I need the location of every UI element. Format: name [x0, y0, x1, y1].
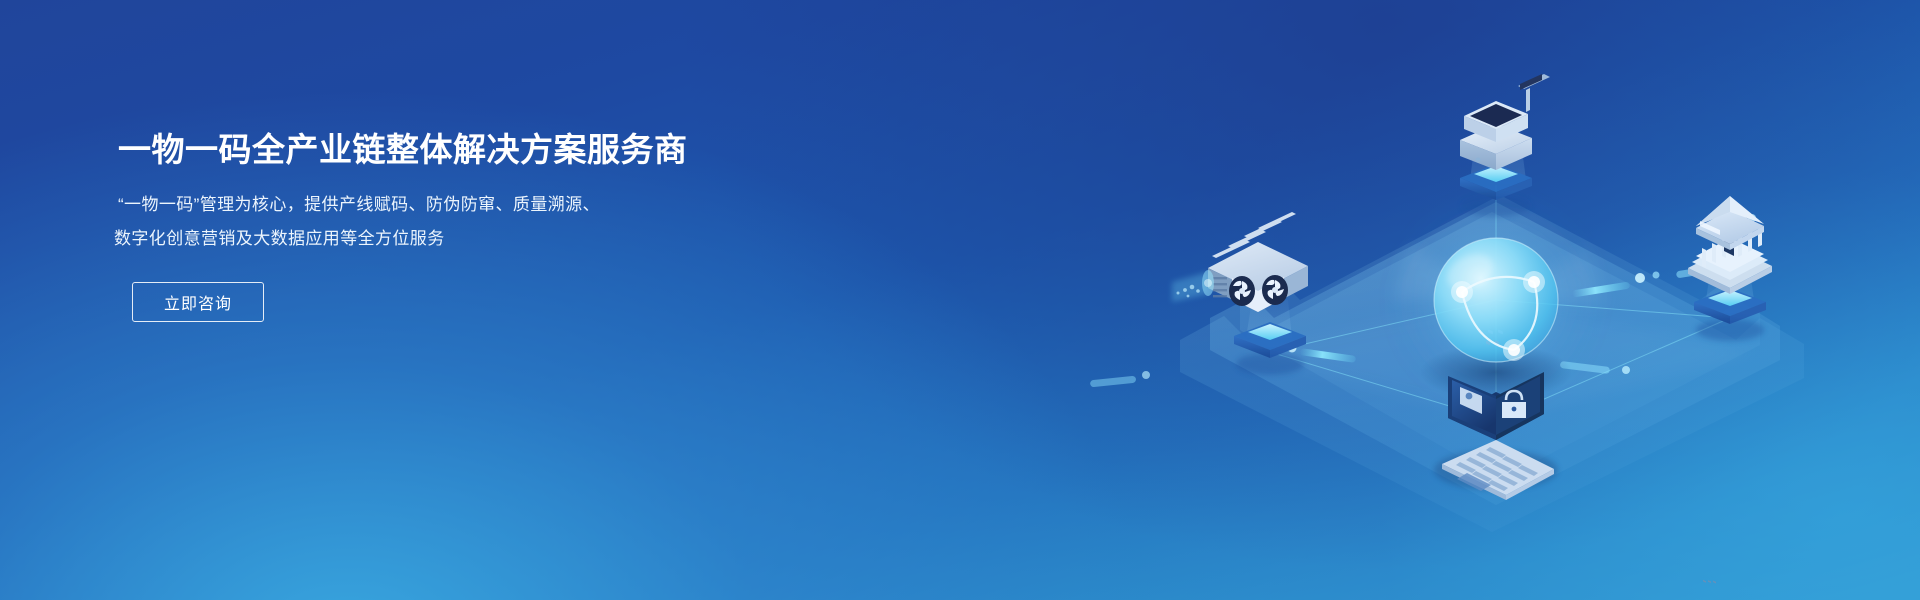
platform-slabs: [1180, 195, 1804, 532]
pos-terminal-node: [1460, 74, 1550, 345]
laptop-keyboard: [1442, 440, 1554, 500]
server-pedestal: [1234, 322, 1306, 375]
hero-subtitle-line-1: “一物一码”管理为核心，提供产线赋码、防伪防窜、质量溯源、: [118, 188, 818, 222]
hero-text-block: 一物一码全产业链整体解决方案服务商 “一物一码”管理为核心，提供产线赋码、防伪防…: [118, 128, 818, 322]
airflow-glow: [1172, 270, 1214, 302]
laptop-security-node: [1434, 372, 1558, 600]
sphere-nodes: [1451, 271, 1545, 361]
laptop-screen: [1448, 372, 1544, 600]
consult-now-button[interactable]: 立即咨询: [132, 282, 264, 322]
server-fan-rack: [1172, 212, 1308, 312]
bank-building-node: [1688, 196, 1772, 583]
lock-icon: [1502, 391, 1526, 418]
hero-subtitle-line-2: 数字化创意营销及大数据应用等全方位服务: [114, 222, 818, 256]
pos-terminal-pedestal: [1460, 164, 1532, 217]
data-packet-pills: [1090, 214, 1756, 387]
cash-register-icon: [1460, 74, 1550, 345]
page-title: 一物一码全产业链整体解决方案服务商: [118, 128, 818, 172]
isometric-illustration: [940, 0, 1920, 600]
connection-lines: [1270, 185, 1730, 420]
data-sphere-node: [1392, 208, 1608, 400]
hero-banner: 一物一码全产业链整体解决方案服务商 “一物一码”管理为核心，提供产线赋码、防伪防…: [0, 0, 1920, 600]
hero-subtitle: “一物一码”管理为核心，提供产线赋码、防伪防窜、质量溯源、 数字化创意营销及大数…: [118, 188, 818, 256]
bank-icon: [1688, 196, 1772, 583]
bank-pedestal: [1694, 288, 1766, 341]
platform-light-beams: [1240, 300, 1760, 420]
server-fans-node: [1172, 212, 1308, 375]
